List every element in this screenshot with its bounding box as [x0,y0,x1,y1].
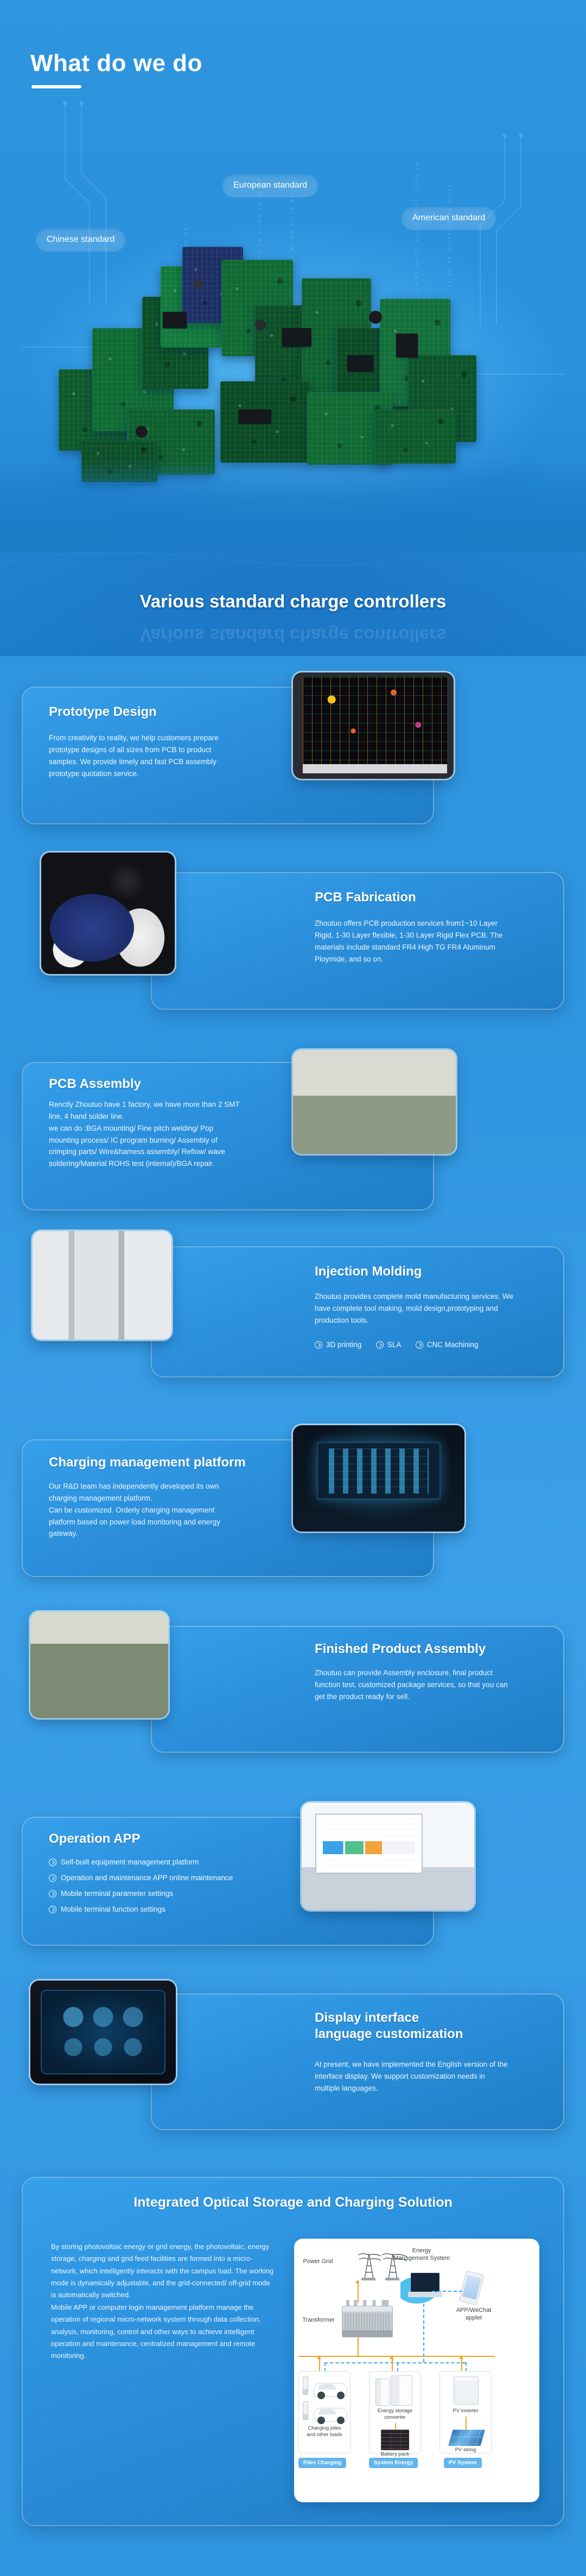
energy-storage-cabinet-icon [375,2379,390,2406]
tag-piles-charging: Piles Charging [298,2458,346,2468]
card-body: Zhoutuo can provide Assembly enclosure, … [315,1667,510,1703]
electric-car-icon [314,2408,347,2422]
card-title: Prototype Design [49,704,157,720]
optical-storage-charging-diagram: Power Grid Transformer Energy Management… [294,2239,539,2502]
photo-finished-product-assembly [30,1612,168,1718]
card-title: Integrated Optical Storage and Charging … [23,2194,563,2211]
diagram-label-pv-inverter: PV inverter [439,2408,492,2414]
list-item: Operation and maintenance APP online mai… [49,1874,293,1882]
card-injection-molding: Injection Molding Zhoutuo provides compl… [152,1247,563,1376]
control-bus [324,2362,466,2363]
piles-up-arrow [317,2356,321,2359]
charge-controller-board-collage [0,247,586,594]
card-body: Zhoutuo offers PCB production services f… [315,918,505,965]
photo-operation-app [302,1803,474,1910]
standard-chip-european: European standard [222,175,318,197]
bullet-label: CNC Machining [427,1341,479,1349]
page-root: 01 10 01 00 11 01 10 10 01 11 00 10 01 1… [0,0,586,2576]
transformer-icon [342,2306,393,2337]
photo-display-interface [30,1981,176,2084]
photo-prototype-design [293,672,454,779]
chevron-right-icon [49,1874,56,1882]
cloud-laptop-icon [400,2270,447,2304]
power-bus [298,2356,495,2357]
card-body: At present, we have implemented the Engl… [315,2059,509,2094]
pv-inverter-icon [454,2376,479,2405]
pv-up-arrow [459,2356,463,2359]
chevron-right-icon [315,1341,322,1349]
chevron-right-icon [49,1890,56,1898]
diagram-label-energy-management-system: Energy Management System [381,2247,462,2263]
photo-injection-molding [33,1231,171,1340]
title-underline [31,85,81,88]
list-item: Mobile terminal parameter settings [49,1889,293,1898]
list-item: Self-built equipment management platform [49,1858,293,1866]
page-title: What do we do [30,50,202,77]
hero-caption: Various standard charge controllers [0,591,586,612]
card-title: PCB Fabrication [315,889,416,906]
inverter-to-string-line [466,2417,467,2431]
diagram-label-energy-storage-converter: Energy storage converter [369,2408,421,2421]
card-body: Renctly Zhoutuo have 1 factory, we have … [49,1099,245,1170]
bullet-label: Self-built equipment management platform [61,1858,199,1866]
card-integrated-optical-storage-and-charging-solution: Integrated Optical Storage and Charging … [23,2178,563,2525]
diagram-label-transformer: Transformer [297,2317,340,2324]
energy-storage-cabinet-icon [391,2375,412,2406]
bullet-cnc-machining: CNC Machining [416,1341,479,1349]
diagram-label-power-grid: Power Grid [300,2258,336,2266]
bullet-label: Operation and maintenance APP online mai… [61,1874,233,1882]
card-title: Operation APP [49,1831,140,1847]
electric-car-icon [314,2383,347,2397]
charging-pile-icon [303,2376,308,2395]
photo-pcb-fabrication [41,853,175,974]
hero-section: 01 10 01 00 11 01 10 10 01 11 00 10 01 1… [0,0,586,656]
ems-control-line [423,2304,424,2362]
hero-caption-reflection: Various standard charge controllers [0,625,586,645]
card-title: Charging management platform [49,1454,246,1471]
grid-to-transformer-line [358,2281,359,2303]
transformer-bushings-icon [346,2300,388,2306]
card-finished-product-assembly: Finished Product Assembly Zhoutuo can pr… [152,1627,563,1752]
bullet-label: 3D printing [326,1341,361,1349]
bullet-3d-printing: 3D printing [315,1341,361,1349]
chevron-right-icon [49,1906,56,1913]
card-body: Our R&D team has independently developed… [49,1481,240,1540]
list-item: Mobile terminal function settings [49,1905,293,1913]
card-body: Zhoutuo provides complete mold manufactu… [315,1291,517,1327]
pv-string-icon [448,2430,486,2446]
transformer-to-bus-line [358,2337,359,2357]
card-display-interface-language-customization: Display interface language customization… [152,1995,563,2129]
card-body: By storing photovoltaic energy or grid e… [51,2241,275,2362]
chevron-right-icon [49,1859,56,1866]
chevron-right-icon [376,1341,384,1349]
bullet-sla: SLA [376,1341,402,1349]
ems-to-app-link [432,2291,462,2292]
photo-charging-management-platform [293,1425,464,1531]
ess-up-arrow [390,2356,394,2359]
diagram-label-pv-string: PV string [439,2447,492,2453]
bullet-label: SLA [387,1341,402,1349]
card-title: Display interface language customization [315,2010,463,2042]
bullet-label: Mobile terminal parameter settings [61,1889,173,1898]
battery-pack-icon [381,2430,409,2450]
charging-pile-icon [303,2401,308,2420]
operation-app-bullet-list: Self-built equipment management platform… [49,1858,293,1921]
standard-chip-american: American standard [402,207,496,230]
chevron-right-icon [416,1341,423,1349]
diagram-label-charging-piles: Charging piles and other loads [298,2425,351,2438]
tag-system-energy: System Energy [369,2458,418,2468]
card-pcb-fabrication: PCB Fabrication Zhoutuo offers PCB produ… [152,873,563,1009]
card-title: Finished Product Assembly [315,1641,486,1657]
card-title: Injection Molding [315,1264,422,1280]
grid-to-transformer-arrow [355,2280,360,2283]
photo-pcb-assembly [293,1050,456,1154]
injection-molding-bullet-row: 3D printing SLA CNC Machining [315,1341,543,1351]
tag-pv-system: PV System [444,2458,482,2468]
card-body: From creativity to reality, we help cust… [49,732,239,779]
smartphone-icon [458,2271,484,2306]
diagram-label-battery-pack: Battery pack [369,2451,421,2458]
bullet-label: Mobile terminal function settings [61,1905,165,1913]
diagram-label-app-wechat-applet: APP/WeChat applet [448,2307,499,2322]
card-title: PCB Assembly [49,1076,141,1092]
